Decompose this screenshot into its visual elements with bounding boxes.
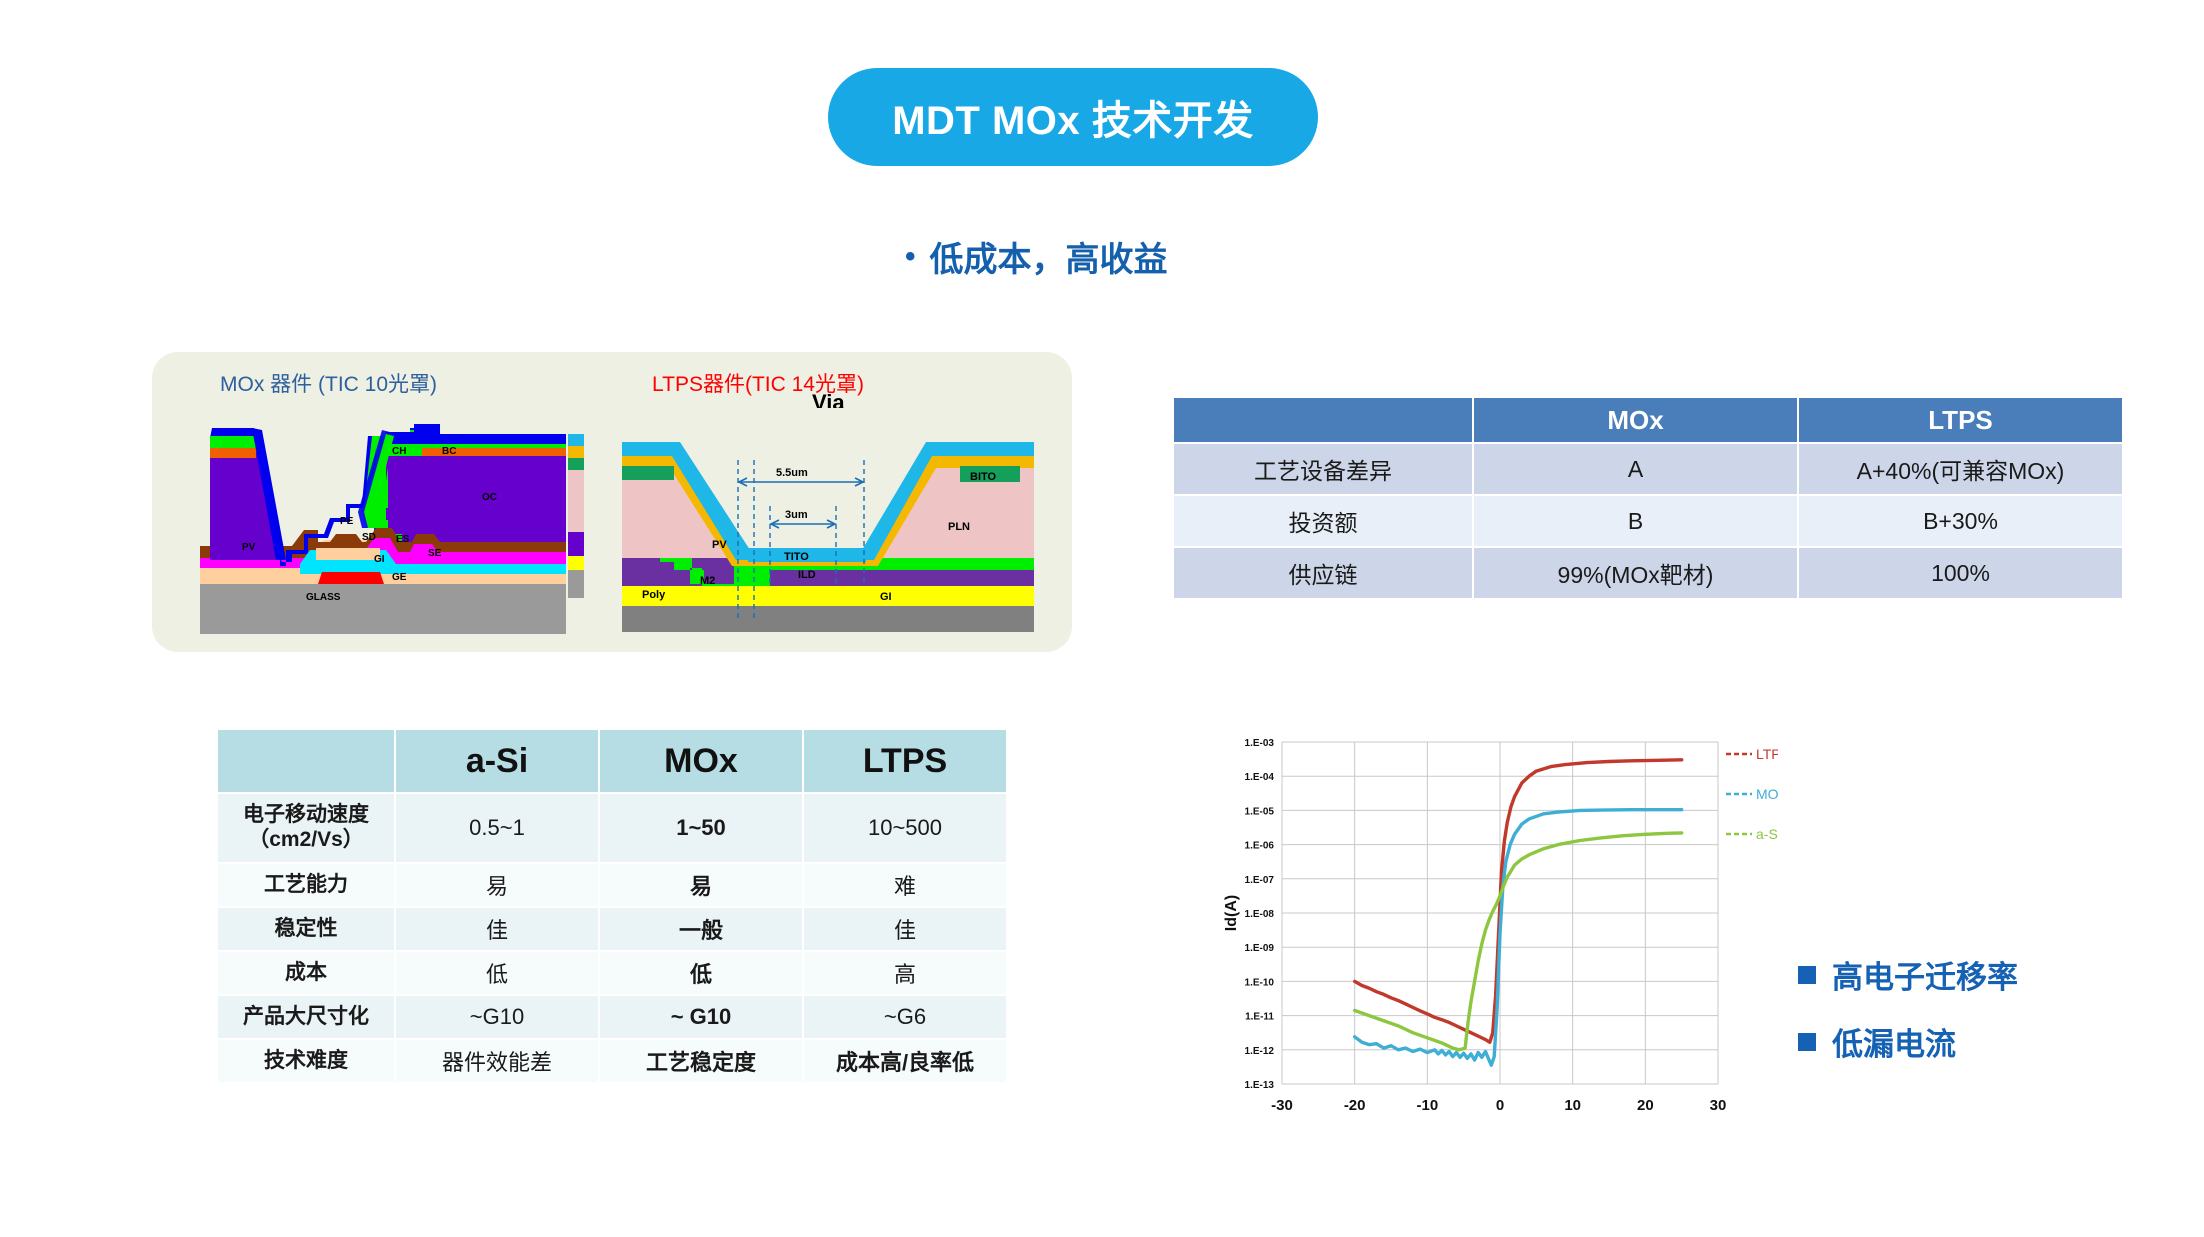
- ltps-cross-section-diagram: 5.5um 3um BITO PLN PV TITO ILD M2 Poly G…: [618, 408, 1038, 638]
- page-title: MDT MOx 技术开发: [892, 88, 1254, 146]
- label-gi2: GI: [880, 591, 892, 603]
- table-bottom-header-2: MOx: [599, 729, 803, 793]
- chart-xtick-label: 10: [1564, 1097, 1581, 1114]
- chart-yaxis-title: Id(A): [1223, 895, 1240, 931]
- table-row: 成本低低高: [217, 951, 1007, 995]
- chart-legend-label: a-Si: [1756, 826, 1778, 842]
- table-row: 工艺设备差异 A A+40%(可兼容MOx): [1173, 443, 2123, 495]
- table-top-label-1: 投资额: [1173, 495, 1473, 547]
- table-bottom-asi-5: 器件效能差: [395, 1039, 599, 1083]
- bullet-label-1: 低漏电流: [1832, 1019, 1956, 1064]
- table-bottom-header-row: a-Si MOx LTPS: [217, 729, 1007, 793]
- table-bottom-ltps-3: 高: [803, 951, 1007, 995]
- chart-ytick-label: 1.E-08: [1245, 909, 1275, 920]
- list-item: 低漏电流: [1798, 1019, 2018, 1064]
- label-bc: BC: [442, 446, 456, 457]
- label-gi: GI: [374, 554, 385, 565]
- table-bottom-asi-2: 佳: [395, 907, 599, 951]
- label-ge: GE: [392, 572, 407, 583]
- table-top-header-2: LTPS: [1798, 397, 2123, 443]
- label-bito: BITO: [970, 471, 997, 483]
- id-vg-chart: 1.E-031.E-041.E-051.E-061.E-071.E-081.E-…: [1218, 722, 1778, 1122]
- table-row: 稳定性佳一般佳: [217, 907, 1007, 951]
- mox-legend-strip: [568, 434, 584, 598]
- table-row: 投资额 B B+30%: [1173, 495, 2123, 547]
- label-pv: PV: [242, 542, 256, 553]
- chart-ytick-label: 1.E-13: [1245, 1080, 1275, 1091]
- square-bullet-icon: [1798, 966, 1816, 984]
- mox-cross-section-diagram: CH BC OC PE PV SD ES SE GI GE GLASS: [196, 408, 586, 638]
- device-cross-section-panel: MOx 器件 (TIC 10光罩) LTPS器件(TIC 14光罩) Via: [152, 352, 1072, 652]
- list-item: 高电子迁移率: [1798, 952, 2018, 997]
- chart-canvas: 1.E-031.E-041.E-051.E-061.E-071.E-081.E-…: [1218, 722, 1778, 1122]
- table-bottom-rowhead-3: 成本: [217, 951, 395, 995]
- label-sd: SD: [362, 532, 376, 543]
- table-top-ltps-0: A+40%(可兼容MOx): [1798, 443, 2123, 495]
- table-bottom-mox-1: 易: [599, 863, 803, 907]
- technology-comparison-table: a-Si MOx LTPS 电子移动速度（cm2/Vs）0.5~11~5010~…: [216, 728, 1008, 1084]
- chart-ytick-label: 1.E-05: [1245, 806, 1275, 817]
- table-bottom-mox-5: 工艺稳定度: [599, 1039, 803, 1083]
- chart-legend-label: MOx: [1756, 786, 1778, 802]
- table-bottom-header-0: [217, 729, 395, 793]
- chart-ytick-label: 1.E-07: [1245, 875, 1275, 886]
- key-points-list: 高电子迁移率 低漏电流: [1798, 952, 2018, 1086]
- chart-ytick-label: 1.E-06: [1245, 841, 1275, 852]
- table-row: 工艺能力易易难: [217, 863, 1007, 907]
- table-bottom-rowhead-4: 产品大尺寸化: [217, 995, 395, 1039]
- label-es: ES: [396, 534, 410, 545]
- table-bottom-asi-0: 0.5~1: [395, 793, 599, 863]
- label-se: SE: [428, 548, 442, 559]
- table-top-label-0: 工艺设备差异: [1173, 443, 1473, 495]
- table-bottom-asi-3: 低: [395, 951, 599, 995]
- table-bottom-rowhead-5: 技术难度: [217, 1039, 395, 1083]
- chart-ytick-label: 1.E-09: [1245, 943, 1275, 954]
- table-bottom-ltps-5: 成本高/良率低: [803, 1039, 1007, 1083]
- label-m2: M2: [700, 575, 715, 587]
- table-top-ltps-2: 100%: [1798, 547, 2123, 599]
- label-3um: 3um: [785, 509, 808, 521]
- chart-xtick-label: -10: [1416, 1097, 1438, 1114]
- table-top-header-row: MOx LTPS: [1173, 397, 2123, 443]
- table-bottom-asi-1: 易: [395, 863, 599, 907]
- page-title-pill: MDT MOx 技术开发: [828, 68, 1318, 166]
- table-bottom-mox-4: ~ G10: [599, 995, 803, 1039]
- table-bottom-mox-3: 低: [599, 951, 803, 995]
- chart-legend-label: LTPS: [1756, 746, 1778, 762]
- table-top-label-2: 供应链: [1173, 547, 1473, 599]
- table-bottom-ltps-0: 10~500: [803, 793, 1007, 863]
- chart-ytick-label: 1.E-12: [1245, 1046, 1275, 1057]
- chart-xtick-label: 20: [1637, 1097, 1654, 1114]
- bullet-dot-icon: •: [905, 242, 916, 272]
- table-top-header-1: MOx: [1473, 397, 1798, 443]
- table-top-mox-0: A: [1473, 443, 1798, 495]
- table-row: 供应链 99%(MOx靶材) 100%: [1173, 547, 2123, 599]
- table-row: 技术难度器件效能差工艺稳定度成本高/良率低: [217, 1039, 1007, 1083]
- table-bottom-mox-2: 一般: [599, 907, 803, 951]
- label-ild: ILD: [798, 569, 816, 581]
- chart-xtick-label: 30: [1710, 1097, 1727, 1114]
- table-bottom-rowhead-0: 电子移动速度（cm2/Vs）: [217, 793, 395, 863]
- label-pe: PE: [340, 516, 354, 527]
- square-bullet-icon: [1798, 1033, 1816, 1051]
- table-top-header-0: [1173, 397, 1473, 443]
- table-top-mox-1: B: [1473, 495, 1798, 547]
- chart-ytick-label: 1.E-11: [1245, 1012, 1274, 1023]
- table-bottom-header-1: a-Si: [395, 729, 599, 793]
- table-top-ltps-1: B+30%: [1798, 495, 2123, 547]
- table-top-mox-2: 99%(MOx靶材): [1473, 547, 1798, 599]
- table-bottom-ltps-1: 难: [803, 863, 1007, 907]
- label-tito: TITO: [784, 551, 809, 563]
- chart-ytick-label: 1.E-04: [1245, 772, 1275, 783]
- label-55um: 5.5um: [776, 467, 808, 479]
- subtitle: • 低成本，高收益: [905, 232, 1168, 281]
- chart-xtick-label: -30: [1271, 1097, 1293, 1114]
- subtitle-text: 低成本，高收益: [930, 232, 1168, 281]
- label-oc: OC: [482, 492, 497, 503]
- label-glass: GLASS: [306, 592, 341, 603]
- process-comparison-table: MOx LTPS 工艺设备差异 A A+40%(可兼容MOx) 投资额 B B+…: [1172, 396, 2124, 600]
- mox-diagram-title: MOx 器件 (TIC 10光罩): [220, 368, 437, 398]
- table-bottom-rowhead-2: 稳定性: [217, 907, 395, 951]
- table-bottom-ltps-4: ~G6: [803, 995, 1007, 1039]
- label-pv2: PV: [712, 539, 727, 551]
- chart-ytick-label: 1.E-10: [1245, 977, 1275, 988]
- table-bottom-rowhead-1: 工艺能力: [217, 863, 395, 907]
- table-row: 产品大尺寸化~G10~ G10~G6: [217, 995, 1007, 1039]
- chart-xtick-label: -20: [1344, 1097, 1366, 1114]
- label-ch: CH: [392, 446, 406, 457]
- table-row: 电子移动速度（cm2/Vs）0.5~11~5010~500: [217, 793, 1007, 863]
- chart-xtick-label: 0: [1496, 1097, 1504, 1114]
- table-bottom-ltps-2: 佳: [803, 907, 1007, 951]
- label-poly: Poly: [642, 589, 666, 601]
- label-pln: PLN: [948, 521, 970, 533]
- table-bottom-header-3: LTPS: [803, 729, 1007, 793]
- bullet-label-0: 高电子迁移率: [1832, 952, 2018, 997]
- chart-ytick-label: 1.E-03: [1245, 738, 1275, 749]
- table-bottom-asi-4: ~G10: [395, 995, 599, 1039]
- table-bottom-mox-0: 1~50: [599, 793, 803, 863]
